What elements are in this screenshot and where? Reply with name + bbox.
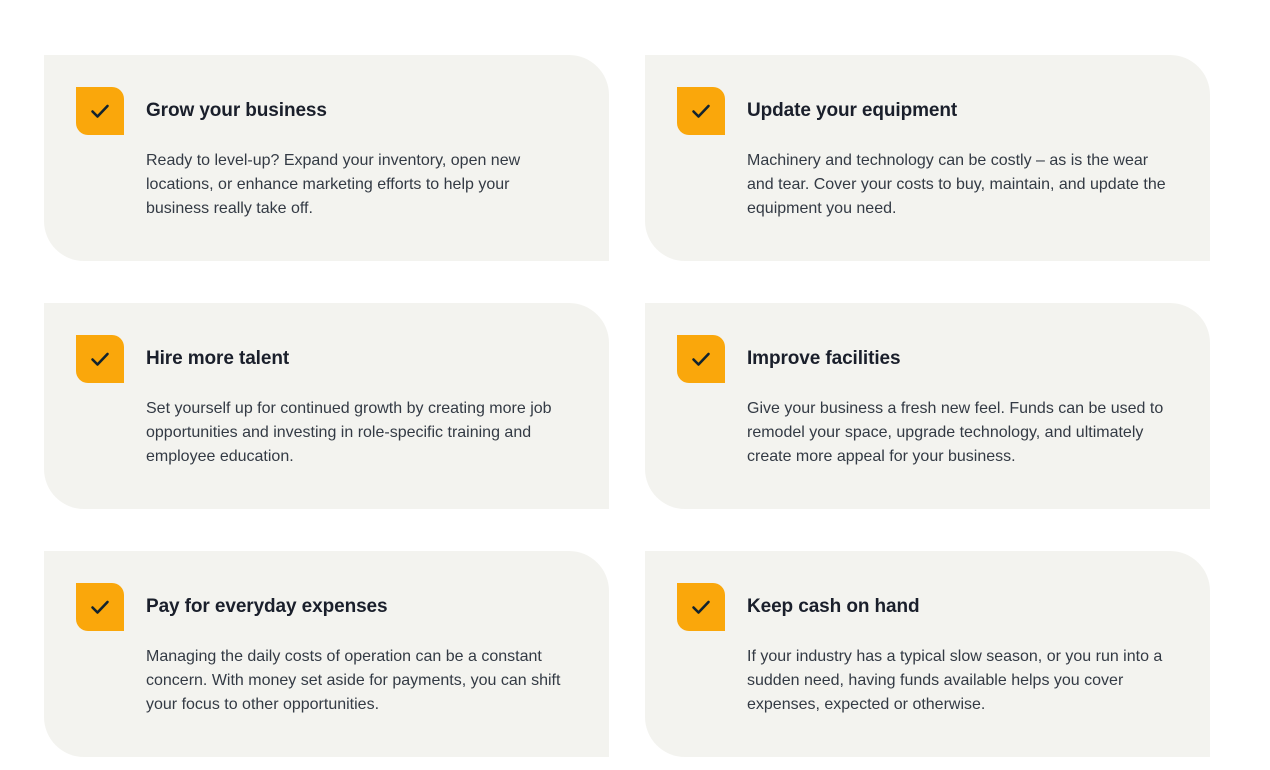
card-body: Ready to level-up? Expand your inventory… [146, 149, 573, 221]
benefit-card: Grow your business Ready to level-up? Ex… [44, 55, 609, 261]
card-body: Managing the daily costs of operation ca… [146, 645, 573, 717]
card-header: Hire more talent [76, 335, 573, 383]
check-icon [76, 87, 124, 135]
benefit-card: Pay for everyday expenses Managing the d… [44, 551, 609, 757]
check-icon [677, 87, 725, 135]
card-title: Keep cash on hand [747, 596, 920, 619]
card-header: Keep cash on hand [677, 583, 1174, 631]
card-header: Grow your business [76, 87, 573, 135]
card-body: If your industry has a typical slow seas… [747, 645, 1174, 717]
card-title: Improve facilities [747, 348, 900, 371]
card-title: Grow your business [146, 100, 327, 123]
card-title: Update your equipment [747, 100, 957, 123]
benefit-card: Hire more talent Set yourself up for con… [44, 303, 609, 509]
card-title: Hire more talent [146, 348, 289, 371]
check-icon [677, 335, 725, 383]
benefit-cards-grid: Grow your business Ready to level-up? Ex… [44, 55, 1210, 757]
check-icon [677, 583, 725, 631]
card-body: Set yourself up for continued growth by … [146, 397, 573, 469]
benefit-card: Update your equipment Machinery and tech… [645, 55, 1210, 261]
card-header: Update your equipment [677, 87, 1174, 135]
check-icon [76, 583, 124, 631]
benefit-card: Keep cash on hand If your industry has a… [645, 551, 1210, 757]
card-header: Improve facilities [677, 335, 1174, 383]
benefit-card: Improve facilities Give your business a … [645, 303, 1210, 509]
card-body: Give your business a fresh new feel. Fun… [747, 397, 1174, 469]
card-header: Pay for everyday expenses [76, 583, 573, 631]
check-icon [76, 335, 124, 383]
card-body: Machinery and technology can be costly –… [747, 149, 1174, 221]
card-title: Pay for everyday expenses [146, 596, 388, 619]
